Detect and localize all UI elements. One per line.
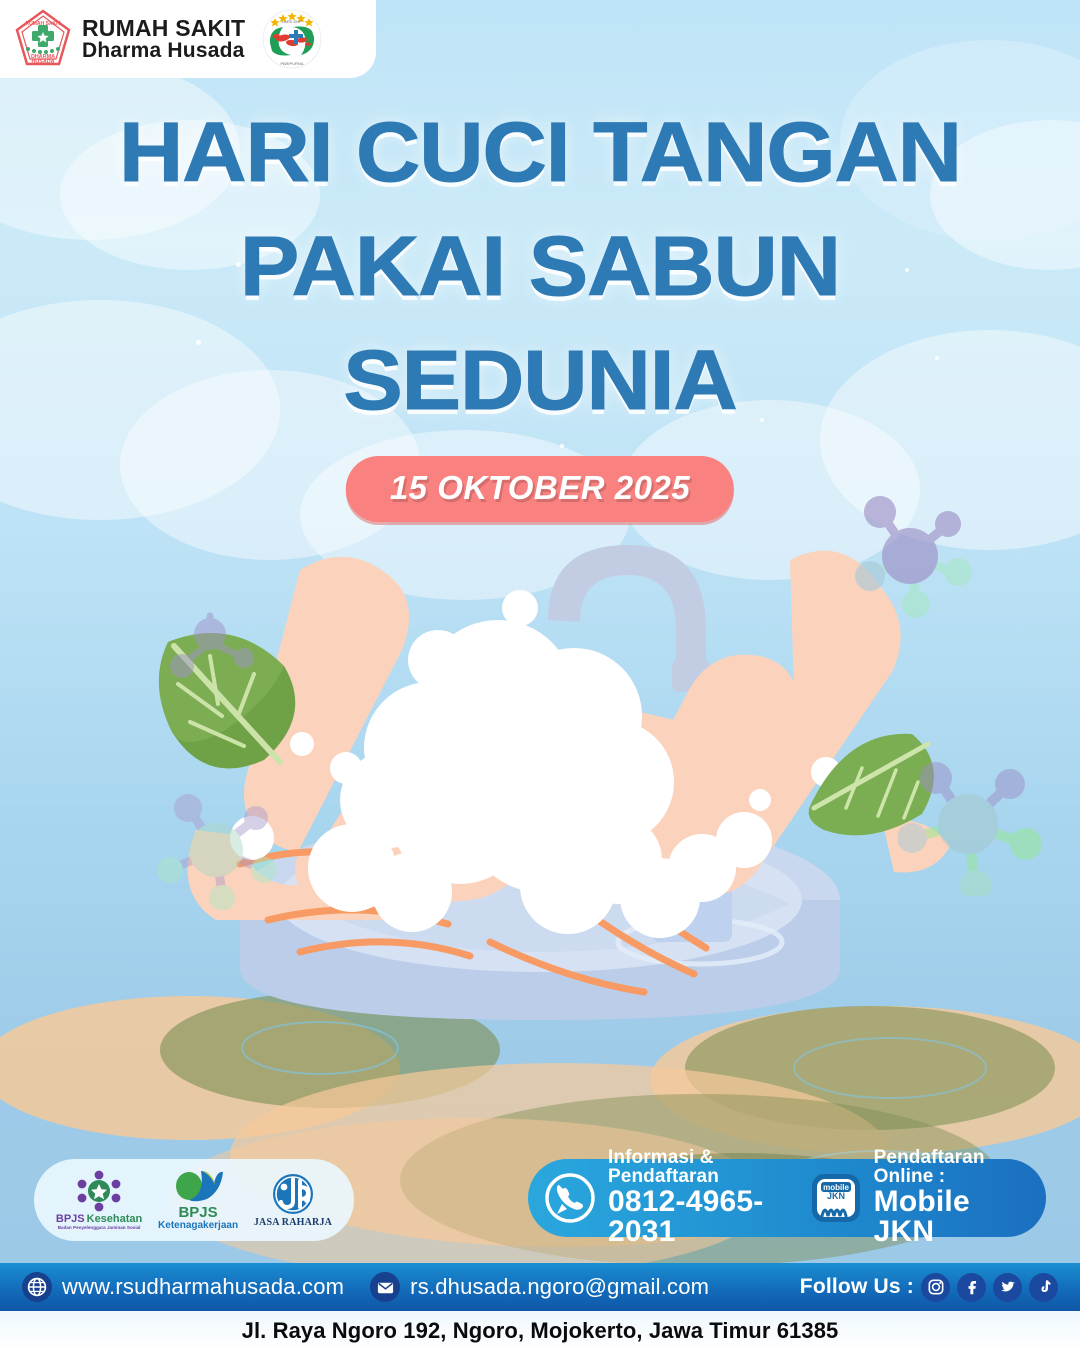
info-registration-block: Informasi & Pendaftaran 0812-4965-2031	[608, 1148, 794, 1248]
poster-title-line-2: PAKAI SABUN	[0, 218, 1080, 315]
germ-left-icon	[150, 790, 290, 910]
website-url[interactable]: www.rsudharmahusada.com	[62, 1274, 344, 1300]
event-date-label: 15 OKTOBER 2025	[390, 469, 690, 506]
contact-registration-pill: Informasi & Pendaftaran 0812-4965-2031 m…	[528, 1159, 1046, 1237]
online-registration-block: Pendaftaran Online : Mobile JKN	[874, 1148, 1030, 1248]
svg-text:LARS DHP: LARS DHP	[282, 19, 302, 24]
bpjs-ketenagakerjaan-line2: Ketenagakerjaan	[158, 1220, 238, 1231]
bpjs-kesehatan-mark-icon	[74, 1170, 124, 1212]
jasa-raharja-label: JASA RAHARJA	[254, 1217, 332, 1228]
bpjs-kesehatan-line2: Kesehatan	[87, 1213, 143, 1225]
follow-us-label: Follow Us :	[800, 1275, 914, 1299]
hospital-name-line2: Dharma Husada	[82, 40, 245, 62]
website-item[interactable]: www.rsudharmahusada.com	[22, 1272, 344, 1302]
twitter-icon[interactable]	[993, 1273, 1022, 1302]
germ-right-icon	[898, 756, 1058, 896]
jasa-raharja-mark-icon	[270, 1173, 316, 1217]
hospital-name: RUMAH SAKIT Dharma Husada	[82, 16, 245, 62]
poster-title-line-3: SEDUNIA	[0, 332, 1080, 429]
follow-us-group: Follow Us :	[800, 1273, 1058, 1302]
lars-accreditation-seal-icon: LARS DHP PARIPURNA	[261, 7, 323, 71]
tiktok-icon[interactable]	[1029, 1273, 1058, 1302]
instagram-icon[interactable]	[921, 1273, 950, 1302]
svg-text:PARIPURNA: PARIPURNA	[281, 61, 304, 66]
mobile-jkn-icon[interactable]: mobile JKN	[810, 1172, 862, 1224]
online-registration-label: Pendaftaran Online :	[874, 1148, 1030, 1187]
facebook-icon[interactable]	[957, 1273, 986, 1302]
svg-text:HUSADA: HUSADA	[31, 59, 54, 65]
bpjs-kesehatan-line3: Badan Penyelenggara Jaminan Sosial	[58, 1225, 141, 1230]
rs-dharma-husada-seal-icon: RUMAH SAKIT DHARMA HUSADA	[14, 8, 72, 70]
bpjs-kesehatan-logo: BPJS Kesehatan Badan Penyelenggara Jamin…	[56, 1170, 142, 1230]
hospital-name-line1: RUMAH SAKIT	[82, 16, 245, 40]
email-item[interactable]: rs.dhusada.ngoro@gmail.com	[370, 1272, 709, 1302]
whatsapp-icon[interactable]	[544, 1172, 596, 1224]
hospital-header-card: RUMAH SAKIT DHARMA HUSADA RUMAH SAKIT Dh…	[0, 0, 376, 78]
bpjs-kesehatan-line1: BPJS	[56, 1213, 85, 1225]
insurance-logos-pill: BPJS Kesehatan Badan Penyelenggara Jamin…	[34, 1159, 354, 1241]
jkn-icon-line2: JKN	[827, 1191, 845, 1201]
jasa-raharja-logo: JASA RAHARJA	[254, 1173, 332, 1228]
poster-canvas: RUMAH SAKIT DHARMA HUSADA RUMAH SAKIT Dh…	[0, 0, 1080, 1350]
footer-contact-bar: www.rsudharmahusada.com rs.dhusada.ngoro…	[0, 1263, 1080, 1311]
event-date-badge: 15 OKTOBER 2025	[346, 456, 734, 522]
email-address[interactable]: rs.dhusada.ngoro@gmail.com	[410, 1274, 709, 1300]
bpjs-ketenagakerjaan-line1: BPJS	[178, 1205, 217, 1220]
address-text: Jl. Raya Ngoro 192, Ngoro, Mojokerto, Ja…	[242, 1318, 839, 1344]
bpjs-ketenagakerjaan-logo: BPJS Ketenagakerjaan	[158, 1169, 238, 1231]
globe-icon	[22, 1272, 52, 1302]
address-bar: Jl. Raya Ngoro 192, Ngoro, Mojokerto, Ja…	[0, 1311, 1080, 1350]
online-registration-value: Mobile JKN	[874, 1187, 1030, 1248]
germ-near-leaf-icon	[166, 608, 258, 684]
envelope-icon	[370, 1272, 400, 1302]
phone-number[interactable]: 0812-4965-2031	[608, 1187, 794, 1248]
germ-top-right-icon	[846, 490, 986, 620]
bpjs-ketenagakerjaan-mark-icon	[171, 1169, 225, 1205]
info-registration-label: Informasi & Pendaftaran	[608, 1148, 794, 1187]
poster-title-line-1: HARI CUCI TANGAN	[0, 104, 1080, 201]
seal-top-text: RUMAH SAKIT	[26, 21, 61, 27]
